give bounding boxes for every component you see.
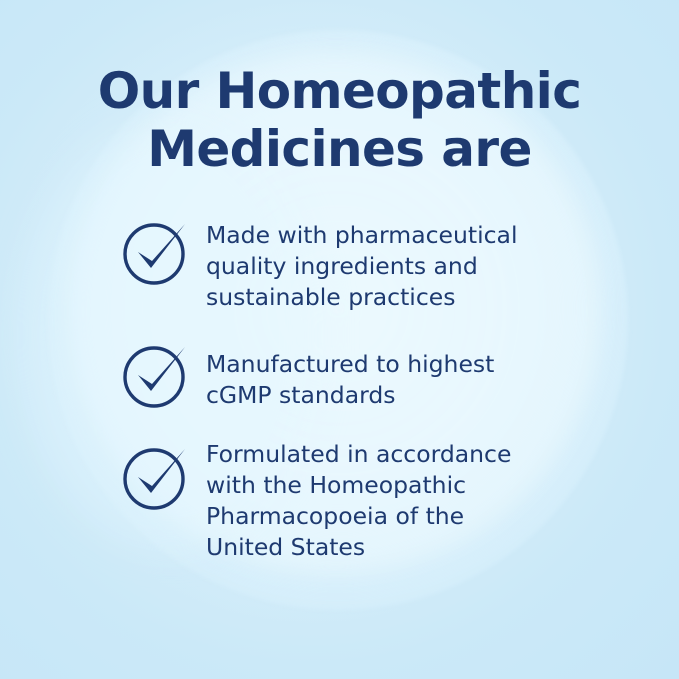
list-item-text-line: with the Homeopathic (206, 470, 511, 501)
list-item-text-line: Formulated in accordance (206, 439, 511, 470)
list-item-text-line: quality ingredients and (206, 251, 517, 282)
list-item-text: Manufactured to highest cGMP standards (192, 337, 494, 411)
page-title-line-1: Our Homeopathic (0, 62, 679, 120)
list-item-text-line: Pharmacopoeia of the (206, 501, 511, 532)
list-item-text-line: Manufactured to highest (206, 349, 494, 380)
list-item: Manufactured to highest cGMP standards (118, 337, 588, 413)
page-title-line-2: Medicines are (0, 120, 679, 178)
list-item-text: Made with pharmaceutical quality ingredi… (192, 214, 517, 313)
list-item-text-line: Made with pharmaceutical (206, 220, 517, 251)
checkmark-circle-icon (118, 216, 192, 290)
benefits-list: Made with pharmaceutical quality ingredi… (118, 214, 588, 563)
list-item: Made with pharmaceutical quality ingredi… (118, 214, 588, 313)
list-item-text-line: United States (206, 532, 511, 563)
checkmark-circle-icon (118, 339, 192, 413)
list-item: Formulated in accordance with the Homeop… (118, 439, 588, 563)
page-title: Our Homeopathic Medicines are (0, 62, 679, 178)
list-item-text-line: sustainable practices (206, 282, 517, 313)
promo-graphic: Our Homeopathic Medicines are Made with … (0, 0, 679, 679)
list-item-text: Formulated in accordance with the Homeop… (192, 439, 511, 563)
list-item-text-line: cGMP standards (206, 380, 494, 411)
checkmark-circle-icon (118, 441, 192, 515)
